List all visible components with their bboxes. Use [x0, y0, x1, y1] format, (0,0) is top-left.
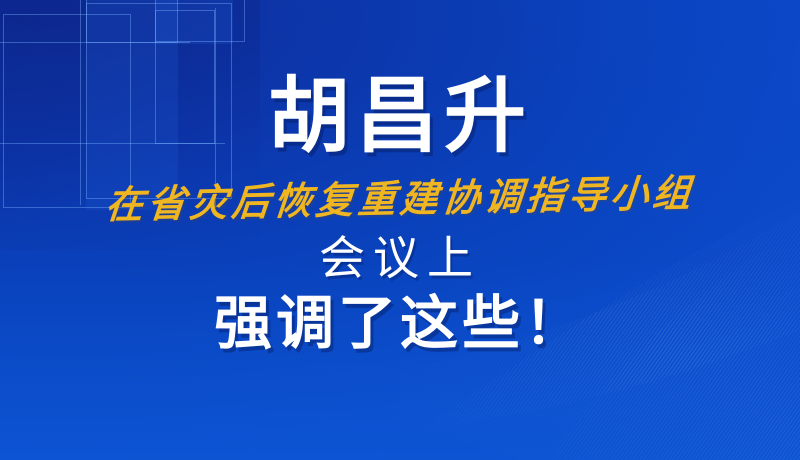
- headline-stack: 胡昌升 在省灾后恢复重建协调指导小组 会议上 强调了这些！: [0, 0, 800, 460]
- person-name-title: 胡昌升: [268, 76, 532, 158]
- poster-banner: 胡昌升 在省灾后恢复重建协调指导小组 会议上 强调了这些！: [0, 0, 800, 460]
- calligraphy-subtitle: 在省灾后恢复重建协调指导小组: [104, 174, 696, 224]
- emphasis-line: 强调了这些！: [214, 295, 586, 353]
- meeting-context-line: 会议上: [319, 235, 481, 281]
